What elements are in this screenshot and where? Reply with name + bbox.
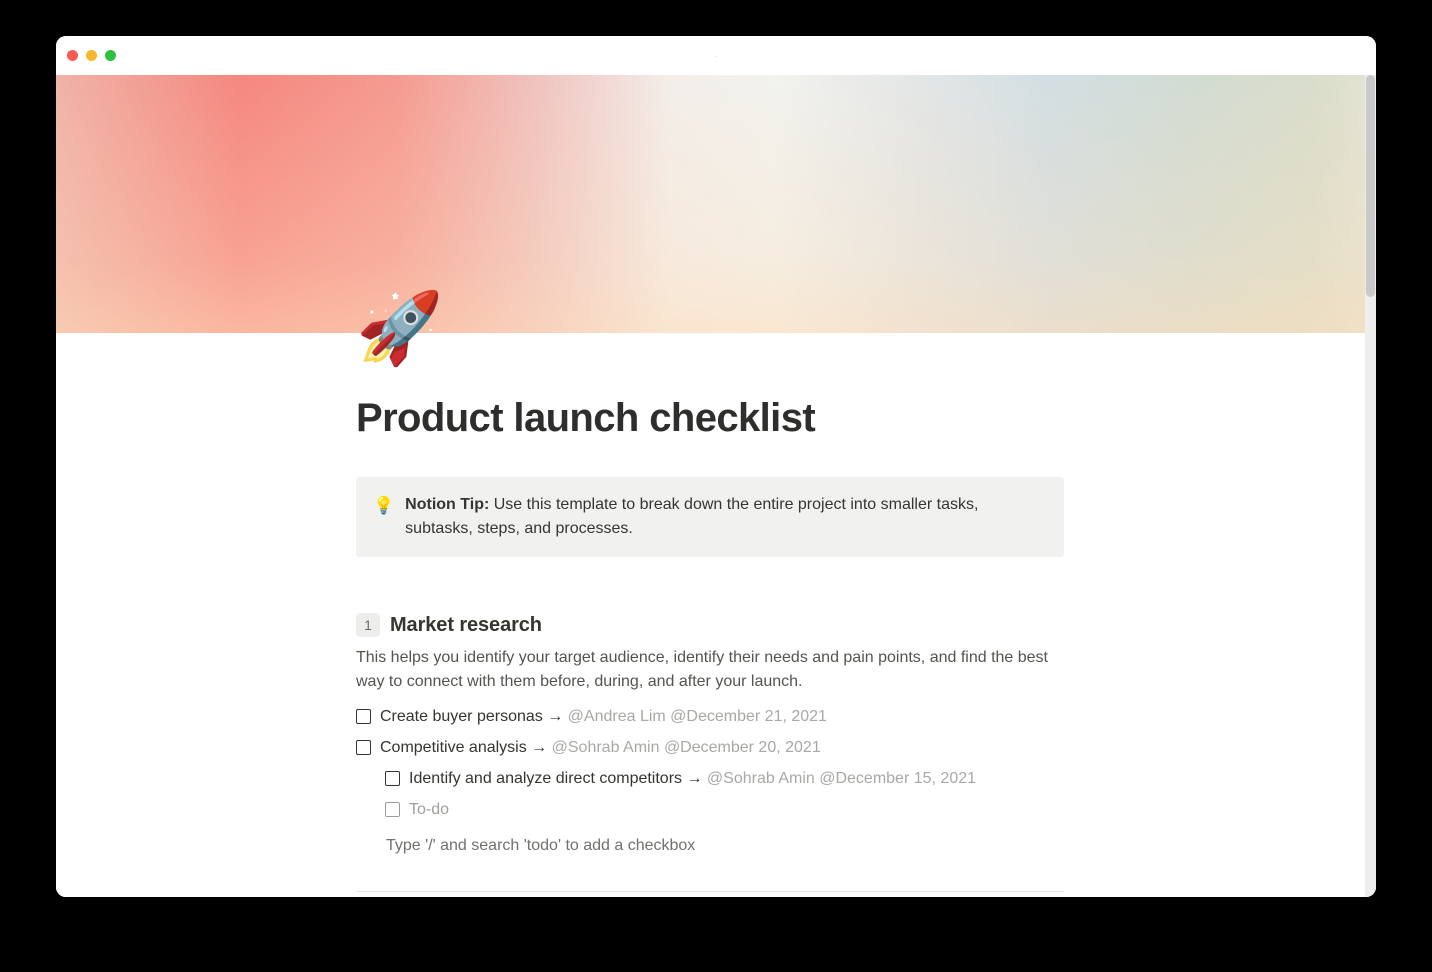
document-scroll-area[interactable]: 🚀 Product launch checklist 💡 Notion Tip:… xyxy=(56,75,1376,897)
app-window: . 🚀 Product launch checklist 💡 Notion Ti… xyxy=(56,36,1376,897)
todo-item[interactable]: Create buyer personas → @Andrea Lim @Dec… xyxy=(356,701,1064,732)
lightbulb-icon: 💡 xyxy=(373,493,394,518)
date-mention[interactable]: @December 20, 2021 xyxy=(664,739,821,756)
arrow-icon: → xyxy=(682,770,707,787)
todo-label[interactable]: Competitive analysis → @Sohrab Amin @Dec… xyxy=(380,736,821,759)
todo-placeholder-label[interactable]: To-do xyxy=(409,798,449,821)
page-title[interactable]: Product launch checklist xyxy=(356,333,1064,441)
section-divider xyxy=(356,891,1064,892)
section-title[interactable]: Market research xyxy=(390,614,542,637)
person-mention[interactable]: @Andrea Lim xyxy=(568,708,666,725)
page-cover-image[interactable] xyxy=(56,75,1365,333)
slash-command-hint: Type '/' and search 'todo' to add a chec… xyxy=(386,834,1064,857)
todo-label[interactable]: Create buyer personas → @Andrea Lim @Dec… xyxy=(380,705,827,728)
person-mention[interactable]: @Sohrab Amin xyxy=(552,739,660,756)
checkbox-icon[interactable] xyxy=(356,709,371,724)
vertical-scrollbar-thumb[interactable] xyxy=(1366,75,1375,297)
notion-tip-callout[interactable]: 💡 Notion Tip: Use this template to break… xyxy=(356,477,1064,557)
person-mention[interactable]: @Sohrab Amin xyxy=(707,770,815,787)
callout-text: Notion Tip: Use this template to break d… xyxy=(405,493,1048,541)
section-heading: 1 Market research xyxy=(356,613,1064,637)
rocket-emoji[interactable]: 🚀 xyxy=(356,293,443,363)
todo-item[interactable]: Competitive analysis → @Sohrab Amin @Dec… xyxy=(356,732,1064,763)
page-content: 🚀 Product launch checklist 💡 Notion Tip:… xyxy=(56,333,1365,897)
todo-text: Competitive analysis xyxy=(380,739,527,756)
checkbox-icon[interactable] xyxy=(356,740,371,755)
screen: . 🚀 Product launch checklist 💡 Notion Ti… xyxy=(0,0,1432,972)
checkbox-icon[interactable] xyxy=(385,802,400,817)
date-mention[interactable]: @December 15, 2021 xyxy=(819,770,976,787)
todo-list: Create buyer personas → @Andrea Lim @Dec… xyxy=(356,701,1064,825)
todo-text: Identify and analyze direct competitors xyxy=(409,770,682,787)
window-titlebar: . xyxy=(56,36,1376,75)
checkbox-icon[interactable] xyxy=(385,771,400,786)
arrow-icon: → xyxy=(527,739,552,756)
todo-item-placeholder[interactable]: To-do xyxy=(385,794,1064,825)
callout-body: Use this template to break down the enti… xyxy=(405,496,978,537)
callout-bold-prefix: Notion Tip: xyxy=(405,496,489,513)
date-mention[interactable]: @December 21, 2021 xyxy=(670,708,827,725)
arrow-icon: → xyxy=(543,708,568,725)
section-number-badge: 1 xyxy=(356,613,380,637)
section-description[interactable]: This helps you identify your target audi… xyxy=(356,646,1064,694)
window-title: . xyxy=(56,48,1376,60)
todo-item[interactable]: Identify and analyze direct competitors … xyxy=(385,763,1064,794)
section-market-research: 1 Market research This helps you identif… xyxy=(356,613,1064,892)
todo-text: Create buyer personas xyxy=(380,708,543,725)
todo-label[interactable]: Identify and analyze direct competitors … xyxy=(409,767,976,790)
